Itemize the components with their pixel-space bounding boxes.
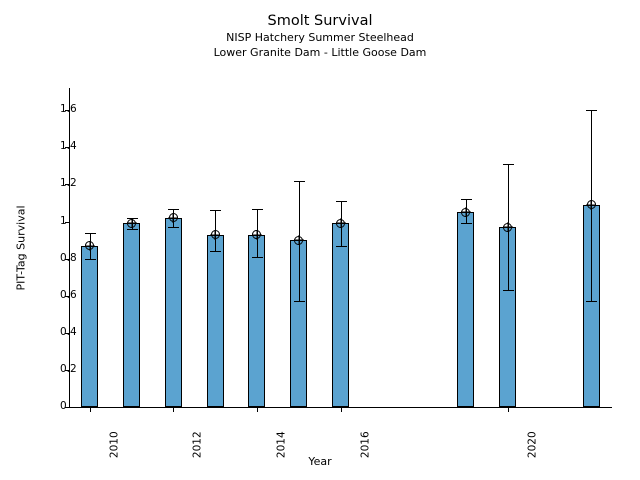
chart-title: Smolt Survival [0,12,640,30]
error-bar-cap-lower [252,257,263,258]
x-axis-tick [341,408,342,412]
error-bar-cap-lower [294,301,305,302]
data-point-marker [336,219,345,228]
data-point-marker [294,236,303,245]
plot-area: 00.20.40.60.811.21.41.6 2010201220142016… [69,88,612,407]
bar [457,212,474,407]
error-bar-cap-lower [461,223,472,224]
bar [165,218,182,407]
chart-figure: Smolt Survival NISP Hatchery Summer Stee… [0,0,640,480]
error-bar-cap-lower [210,251,221,252]
error-bar-cap-lower [168,227,179,228]
x-axis-tick [257,408,258,412]
chart-title-block: Smolt Survival NISP Hatchery Summer Stee… [0,12,640,60]
data-point-marker [587,200,596,209]
error-bar-cap-upper [294,181,305,182]
y-axis-spine [69,88,70,407]
error-bar-cap-upper [503,164,514,165]
error-bar-cap-upper [461,199,472,200]
data-point-marker [127,219,136,228]
bar [81,246,98,407]
chart-subtitle-1: NISP Hatchery Summer Steelhead [0,30,640,45]
data-point-marker [461,208,470,217]
x-axis-tick [508,408,509,412]
error-bar-cap-lower [586,301,597,302]
x-axis-tick [173,408,174,412]
error-bar-cap-upper [586,110,597,111]
y-axis-label-wrap: PIT-Tag Survival [14,88,28,407]
error-bar-cap-lower [503,290,514,291]
error-bar-cap-lower [336,246,347,247]
error-bar-cap-upper [210,210,221,211]
bar [123,223,140,407]
bar [248,235,265,407]
bar [207,235,224,407]
data-point-marker [211,230,220,239]
error-bar-cap-upper [336,201,347,202]
x-axis-label: Year [0,455,640,468]
x-axis-tick [90,408,91,412]
chart-subtitle-2: Lower Granite Dam - Little Goose Dam [0,45,640,60]
bar [332,223,349,407]
error-bar-cap-upper [85,233,96,234]
error-bar-cap-lower [127,229,138,230]
error-bar-cap-upper [252,209,263,210]
data-point-marker [503,223,512,232]
error-bar-cap-lower [85,259,96,260]
error-bar-cap-upper [168,209,179,210]
y-axis-label: PIT-Tag Survival [15,205,28,290]
